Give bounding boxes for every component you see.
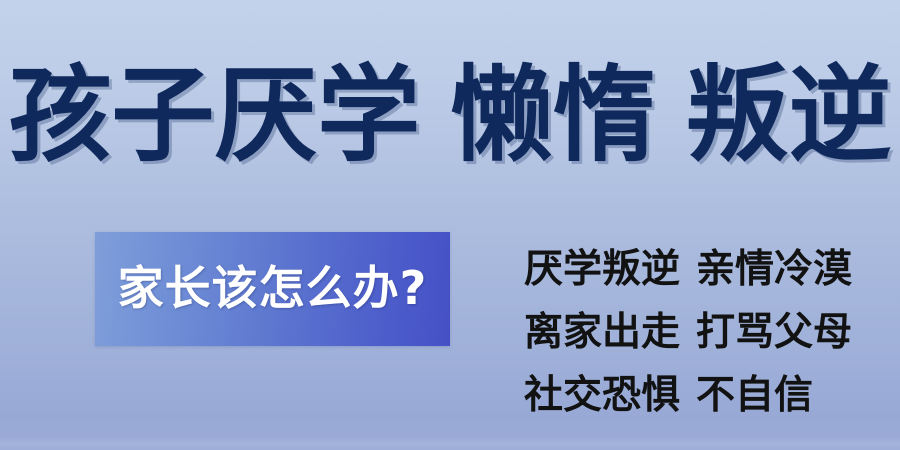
symptom-row: 社交恐惧不自信 [524,364,824,427]
bottom-highlight-band [0,436,900,450]
headline-segment-2: 懒惰 [450,57,656,173]
poster-canvas: 孩子厌学懒惰叛逆 家长该怎么办? 厌学叛逆亲情冷漠 离家出走打骂父母 社交恐惧不… [0,0,900,450]
page-title: 孩子厌学懒惰叛逆 [5,57,896,173]
question-callout-text: 家长该怎么办? [118,265,428,313]
symptom-right: 打骂父母 [696,310,852,355]
symptom-left: 离家出走 [524,310,680,355]
symptom-list: 厌学叛逆亲情冷漠 离家出走打骂父母 社交恐惧不自信 [524,238,824,427]
question-callout-box: 家长该怎么办? [95,232,450,346]
symptom-row: 离家出走打骂父母 [524,301,824,364]
headline-segment-1: 孩子厌学 [8,57,420,173]
symptom-right: 不自信 [696,373,813,418]
symptom-row: 厌学叛逆亲情冷漠 [524,238,824,301]
symptom-left: 社交恐惧 [524,373,680,418]
symptom-left: 厌学叛逆 [524,247,680,292]
headline-segment-3: 叛逆 [686,57,892,173]
symptom-right: 亲情冷漠 [696,247,852,292]
